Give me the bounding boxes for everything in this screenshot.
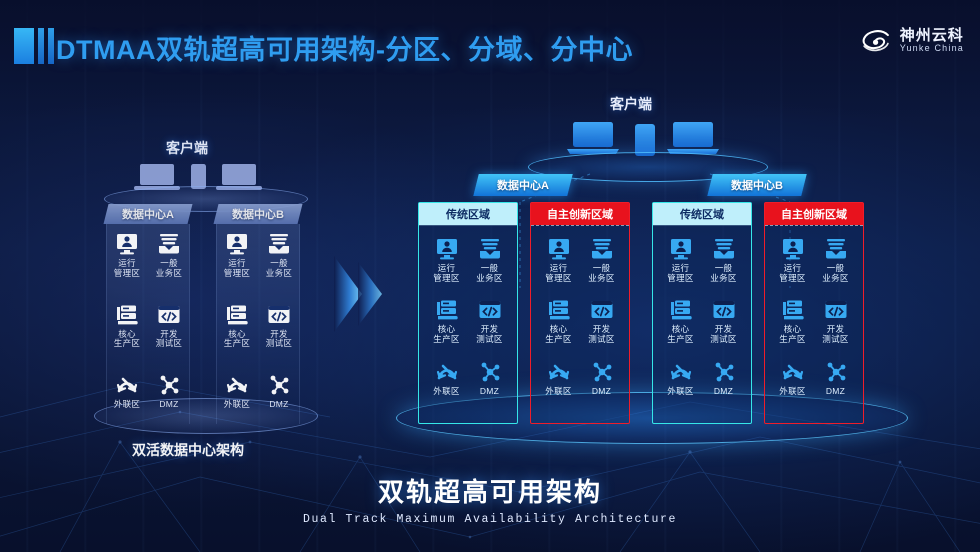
page-title: DTMAA双轨超高可用架构-分区、分域、分中心 — [56, 28, 633, 67]
branch-arrows-icon — [547, 360, 571, 384]
left-zone-a-1: 一般 业务区 — [148, 232, 190, 287]
footer-title-cn: 双轨超高可用架构 — [0, 472, 980, 509]
zone-a-inno-2: 核心 生产区 — [537, 298, 580, 357]
network-nodes-icon — [712, 360, 736, 384]
galaxy-swirl-icon — [859, 24, 893, 58]
zone-b-trad-5-label: DMZ — [714, 387, 733, 397]
zone-box-b-innovation-body: 运行 管理区 一般 业务区 — [765, 225, 863, 425]
zone-b-inno-5: DMZ — [814, 360, 857, 419]
zone-b-trad-2-label: 核心 生产区 — [667, 325, 693, 345]
branch-arrows-icon — [225, 373, 249, 397]
zone-a-trad-4: 外联区 — [425, 360, 468, 419]
left-zone-b-4-label: 外联区 — [224, 400, 250, 410]
monitor-person-icon — [225, 232, 249, 256]
zone-b-trad-4-label: 外联区 — [667, 387, 693, 397]
zone-box-a-innovation-title: 自主创新区域 — [531, 203, 629, 225]
network-nodes-icon — [157, 373, 181, 397]
code-window-icon — [157, 303, 181, 327]
zone-box-a-innovation-body: 运行 管理区 一般 业务区 — [531, 225, 629, 425]
left-zone-a-1-label: 一般 业务区 — [156, 259, 182, 279]
double-chevron-right-icon — [332, 252, 392, 336]
zone-a-trad-1-label: 一般 业务区 — [476, 264, 502, 284]
left-zone-a-2: 核心 生产区 — [106, 303, 148, 358]
laptop-icon — [567, 122, 619, 154]
right-dc-tag-b: 数据中心B — [707, 174, 806, 196]
right-dc-tag-a: 数据中心A — [473, 174, 572, 196]
network-nodes-icon — [590, 360, 614, 384]
zone-a-trad-2-label: 核心 生产区 — [433, 325, 459, 345]
zone-box-a-traditional-body: 运行 管理区 一般 业务区 — [419, 225, 517, 425]
zone-a-inno-3: 开发 测试区 — [580, 298, 623, 357]
right-architecture-diagram: 客户端 — [400, 92, 970, 492]
left-zone-b-2: 核心 生产区 — [216, 303, 258, 358]
zone-b-trad-4: 外联区 — [659, 360, 702, 419]
footer-caption: 双轨超高可用架构 Dual Track Maximum Availability… — [0, 472, 980, 526]
footer-title-en: Dual Track Maximum Availability Architec… — [0, 513, 980, 526]
zone-b-inno-0-label: 运行 管理区 — [779, 264, 805, 284]
left-zone-b-4: 外联区 — [216, 373, 258, 418]
left-zone-a-0-label: 运行 管理区 — [114, 259, 140, 279]
zone-a-trad-1: 一般 业务区 — [468, 237, 511, 296]
left-dc-tag-b: 数据中心B — [214, 204, 303, 224]
monitor-person-icon — [115, 232, 139, 256]
zone-b-trad-5: DMZ — [702, 360, 745, 419]
zone-a-trad-4-label: 外联区 — [433, 387, 459, 397]
zone-a-inno-4: 外联区 — [537, 360, 580, 419]
code-window-icon — [824, 298, 848, 322]
zone-b-inno-1-label: 一般 业务区 — [822, 264, 848, 284]
left-zone-b-0: 运行 管理区 — [216, 232, 258, 287]
code-window-icon — [478, 298, 502, 322]
left-zone-b-1: 一般 业务区 — [258, 232, 300, 287]
zone-b-trad-2: 核心 生产区 — [659, 298, 702, 357]
left-zone-grid-b: 运行 管理区 一般 业务区 核心 生产区 — [216, 232, 300, 418]
left-zone-a-2-label: 核心 生产区 — [114, 330, 140, 350]
zone-a-inno-5-label: DMZ — [592, 387, 611, 397]
network-nodes-icon — [824, 360, 848, 384]
zone-a-trad-0: 运行 管理区 — [425, 237, 468, 296]
left-zone-a-3-label: 开发 测试区 — [156, 330, 182, 350]
laptop-icon — [667, 122, 719, 154]
inbox-tray-icon — [824, 237, 848, 261]
inbox-tray-icon — [157, 232, 181, 256]
brand-name-cn: 神州云科 — [900, 28, 964, 44]
left-zone-b-2-label: 核心 生产区 — [224, 330, 250, 350]
slide-canvas: DTMAA双轨超高可用架构-分区、分域、分中心 神州云科 Yunke China… — [0, 0, 980, 552]
left-zone-a-0: 运行 管理区 — [106, 232, 148, 287]
zone-box-a-innovation: 自主创新区域 运行 管理区 — [530, 202, 630, 424]
zone-b-trad-3: 开发 测试区 — [702, 298, 745, 357]
zone-box-a-traditional-title: 传统区域 — [419, 203, 517, 225]
branch-arrows-icon — [781, 360, 805, 384]
server-core-icon — [781, 298, 805, 322]
zone-a-trad-0-label: 运行 管理区 — [433, 264, 459, 284]
zone-b-inno-2: 核心 生产区 — [771, 298, 814, 357]
accent-bar-thin-2 — [48, 28, 54, 64]
left-zone-a-4-label: 外联区 — [114, 400, 140, 410]
inbox-tray-icon — [267, 232, 291, 256]
code-window-icon — [590, 298, 614, 322]
inbox-tray-icon — [712, 237, 736, 261]
inbox-tray-icon — [590, 237, 614, 261]
brand-name-en: Yunke China — [900, 44, 964, 53]
left-dc-tag-a: 数据中心A — [104, 204, 193, 224]
left-zone-a-5: DMZ — [148, 373, 190, 418]
zone-box-b-innovation: 自主创新区域 运行 管理区 — [764, 202, 864, 424]
zone-a-inno-0: 运行 管理区 — [537, 237, 580, 296]
accent-bar-wide — [14, 28, 34, 64]
zone-a-trad-5: DMZ — [468, 360, 511, 419]
zone-a-inno-5: DMZ — [580, 360, 623, 419]
left-zone-a-5-label: DMZ — [159, 400, 178, 410]
left-zone-b-3: 开发 测试区 — [258, 303, 300, 358]
zone-b-trad-0: 运行 管理区 — [659, 237, 702, 296]
server-core-icon — [669, 298, 693, 322]
monitor-person-icon — [547, 237, 571, 261]
zone-b-trad-1-label: 一般 业务区 — [710, 264, 736, 284]
left-zone-b-5: DMZ — [258, 373, 300, 418]
server-core-icon — [435, 298, 459, 322]
branch-arrows-icon — [435, 360, 459, 384]
zone-box-b-traditional: 传统区域 运行 管理区 — [652, 202, 752, 424]
branch-arrows-icon — [115, 373, 139, 397]
left-dc-tag-b-label: 数据中心B — [232, 206, 284, 222]
zone-b-trad-1: 一般 业务区 — [702, 237, 745, 296]
zone-a-trad-2: 核心 生产区 — [425, 298, 468, 357]
left-zone-b-5-label: DMZ — [269, 400, 288, 410]
zone-box-b-traditional-body: 运行 管理区 一般 业务区 — [653, 225, 751, 425]
left-zone-b-1-label: 一般 业务区 — [266, 259, 292, 279]
zone-b-trad-0-label: 运行 管理区 — [667, 264, 693, 284]
right-dc-tag-b-label: 数据中心B — [731, 177, 783, 193]
zone-a-inno-2-label: 核心 生产区 — [545, 325, 571, 345]
left-zone-b-3-label: 开发 测试区 — [266, 330, 292, 350]
zone-a-trad-3: 开发 测试区 — [468, 298, 511, 357]
server-core-icon — [547, 298, 571, 322]
zone-a-inno-4-label: 外联区 — [545, 387, 571, 397]
code-window-icon — [267, 303, 291, 327]
zone-b-inno-4-label: 外联区 — [779, 387, 805, 397]
brand-logo: 神州云科 Yunke China — [859, 24, 964, 58]
title-accent-bars — [14, 28, 54, 64]
left-zone-a-3: 开发 测试区 — [148, 303, 190, 358]
zone-b-trad-3-label: 开发 测试区 — [710, 325, 736, 345]
zone-b-inno-4: 外联区 — [771, 360, 814, 419]
zone-a-inno-0-label: 运行 管理区 — [545, 264, 571, 284]
branch-arrows-icon — [669, 360, 693, 384]
zone-a-inno-3-label: 开发 测试区 — [588, 325, 614, 345]
server-core-icon — [225, 303, 249, 327]
zone-box-b-traditional-title: 传统区域 — [653, 203, 751, 225]
right-client-label: 客户端 — [610, 94, 652, 114]
zone-b-inno-1: 一般 业务区 — [814, 237, 857, 296]
left-zone-grid-a: 运行 管理区 一般 业务区 核心 生产区 — [106, 232, 190, 418]
monitor-person-icon — [435, 237, 459, 261]
left-client-label: 客户端 — [166, 138, 208, 158]
inbox-tray-icon — [478, 237, 502, 261]
server-core-icon — [115, 303, 139, 327]
zone-b-inno-5-label: DMZ — [826, 387, 845, 397]
zone-b-inno-0: 运行 管理区 — [771, 237, 814, 296]
zone-a-trad-3-label: 开发 测试区 — [476, 325, 502, 345]
left-dc-tag-a-label: 数据中心A — [122, 206, 174, 222]
right-dc-tag-a-label: 数据中心A — [497, 177, 549, 193]
monitor-person-icon — [781, 237, 805, 261]
accent-bar-thin-1 — [38, 28, 44, 64]
left-architecture-diagram: 客户端 数据中心A 数据中心B 运行 管理 — [88, 128, 324, 458]
zone-a-inno-1-label: 一般 业务区 — [588, 264, 614, 284]
left-diagram-caption: 双活数据中心架构 — [132, 440, 244, 460]
zone-b-inno-3: 开发 测试区 — [814, 298, 857, 357]
zone-b-inno-3-label: 开发 测试区 — [822, 325, 848, 345]
network-nodes-icon — [478, 360, 502, 384]
monitor-person-icon — [669, 237, 693, 261]
zone-a-inno-1: 一般 业务区 — [580, 237, 623, 296]
left-zone-a-4: 外联区 — [106, 373, 148, 418]
left-zone-b-0-label: 运行 管理区 — [224, 259, 250, 279]
zone-box-b-innovation-title: 自主创新区域 — [765, 203, 863, 225]
zone-a-trad-5-label: DMZ — [480, 387, 499, 397]
network-nodes-icon — [267, 373, 291, 397]
zone-box-a-traditional: 传统区域 运行 管理区 — [418, 202, 518, 424]
code-window-icon — [712, 298, 736, 322]
brand-logo-text: 神州云科 Yunke China — [900, 28, 964, 53]
zone-b-inno-2-label: 核心 生产区 — [779, 325, 805, 345]
slide-header: DTMAA双轨超高可用架构-分区、分域、分中心 神州云科 Yunke China — [0, 0, 980, 88]
